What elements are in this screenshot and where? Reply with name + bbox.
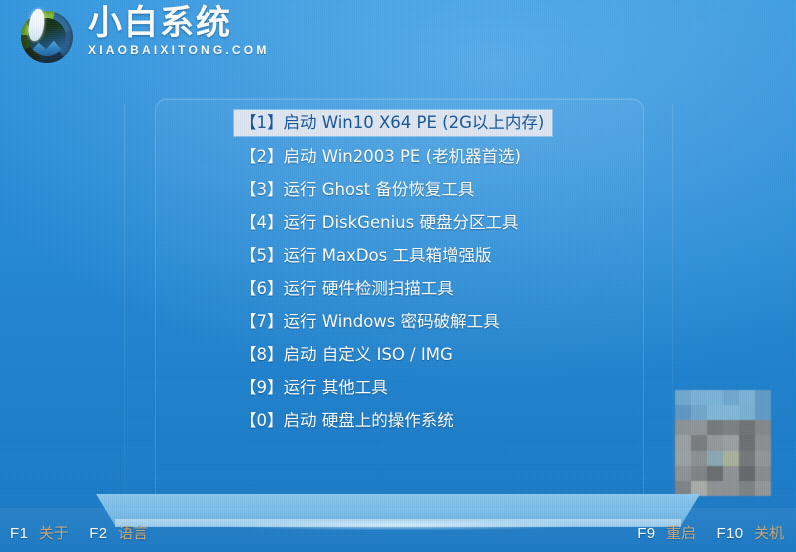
boot-menu-list: 【1】启动 Win10 X64 PE (2G以上内存) 【2】启动 Win200… [234, 107, 564, 437]
mosaic-cell [755, 481, 771, 496]
mosaic-cell [691, 390, 707, 405]
mosaic-cell [707, 435, 723, 450]
menu-item-2[interactable]: 【2】启动 Win2003 PE (老机器首选) [234, 140, 564, 173]
mosaic-cell [675, 466, 691, 481]
mosaic-cell [691, 405, 707, 420]
mosaic-cell [675, 420, 691, 435]
mosaic-cell [707, 466, 723, 481]
mosaic-cell [691, 451, 707, 466]
mosaic-cell [707, 451, 723, 466]
mosaic-cell [755, 435, 771, 450]
menu-item-3[interactable]: 【3】运行 Ghost 备份恢复工具 [234, 173, 564, 206]
mosaic-cell [675, 390, 691, 405]
header: 小白系统 XIAOBAIXITONG.COM [0, 0, 796, 78]
mosaic-cell [739, 435, 755, 450]
hotkey-f2-label[interactable]: 语言 [118, 524, 148, 542]
menu-item-1[interactable]: 【1】启动 Win10 X64 PE (2G以上内存) [234, 110, 552, 136]
menu-item-4[interactable]: 【4】运行 DiskGenius 硬盘分区工具 [234, 206, 564, 239]
hotkey-f9-label[interactable]: 重启 [666, 524, 696, 542]
hotkey-f1[interactable]: F1 [10, 525, 28, 542]
mosaic-cell [755, 405, 771, 420]
mosaic-cell [707, 481, 723, 496]
mosaic-cell [755, 390, 771, 405]
mosaic-cell [675, 451, 691, 466]
mosaic-cell [723, 435, 739, 450]
footer-right-hints: F9 重启 F10 关机 [637, 521, 784, 545]
mosaic-cell [739, 405, 755, 420]
brand-name-en: XIAOBAIXITONG.COM [88, 43, 270, 58]
mosaic-cell [723, 390, 739, 405]
mosaic-cell [723, 420, 739, 435]
pedestal-glow [150, 520, 650, 530]
mosaic-cell [691, 435, 707, 450]
hotkey-f2[interactable]: F2 [89, 525, 107, 542]
panel-right-edge [672, 104, 673, 496]
mosaic-cell [707, 420, 723, 435]
mosaic-cell [755, 420, 771, 435]
brand-wordmark: 小白系统 XIAOBAIXITONG.COM [88, 4, 270, 58]
mosaic-cell [707, 390, 723, 405]
panel-left-edge [124, 104, 125, 496]
mosaic-cell [691, 420, 707, 435]
mosaic-cell [691, 481, 707, 496]
censored-mosaic-block [675, 390, 771, 496]
mosaic-cell [739, 466, 755, 481]
mosaic-cell [755, 451, 771, 466]
logo-icon [16, 6, 78, 68]
menu-item-9[interactable]: 【9】运行 其他工具 [234, 371, 564, 404]
mosaic-cell [739, 481, 755, 496]
footer-left-hints: F1 关于 F2 语言 [10, 521, 148, 545]
mosaic-cell [675, 435, 691, 450]
mosaic-cell [675, 481, 691, 496]
menu-item-8[interactable]: 【8】启动 自定义 ISO / IMG [234, 338, 564, 371]
mosaic-cell [675, 405, 691, 420]
hotkey-f10-label[interactable]: 关机 [754, 524, 784, 542]
mosaic-cell [707, 405, 723, 420]
mosaic-cell [739, 390, 755, 405]
menu-item-5[interactable]: 【5】运行 MaxDos 工具箱增强版 [234, 239, 564, 272]
mosaic-cell [723, 405, 739, 420]
brand-name-cn: 小白系统 [88, 4, 270, 42]
hotkey-f9[interactable]: F9 [637, 525, 655, 542]
hotkey-f1-label[interactable]: 关于 [39, 524, 69, 542]
mosaic-cell [739, 420, 755, 435]
boot-menu-screen: 小白系统 XIAOBAIXITONG.COM 【1】启动 Win10 X64 P… [0, 0, 796, 552]
mosaic-cell [691, 466, 707, 481]
menu-item-0[interactable]: 【0】启动 硬盘上的操作系统 [234, 404, 564, 437]
mosaic-cell [739, 451, 755, 466]
mosaic-cell [723, 466, 739, 481]
mosaic-cell [723, 481, 739, 496]
menu-item-7[interactable]: 【7】运行 Windows 密码破解工具 [234, 305, 564, 338]
mosaic-cell [723, 451, 739, 466]
mosaic-cell [755, 466, 771, 481]
hotkey-f10[interactable]: F10 [716, 525, 743, 542]
menu-item-6[interactable]: 【6】运行 硬件检测扫描工具 [234, 272, 564, 305]
